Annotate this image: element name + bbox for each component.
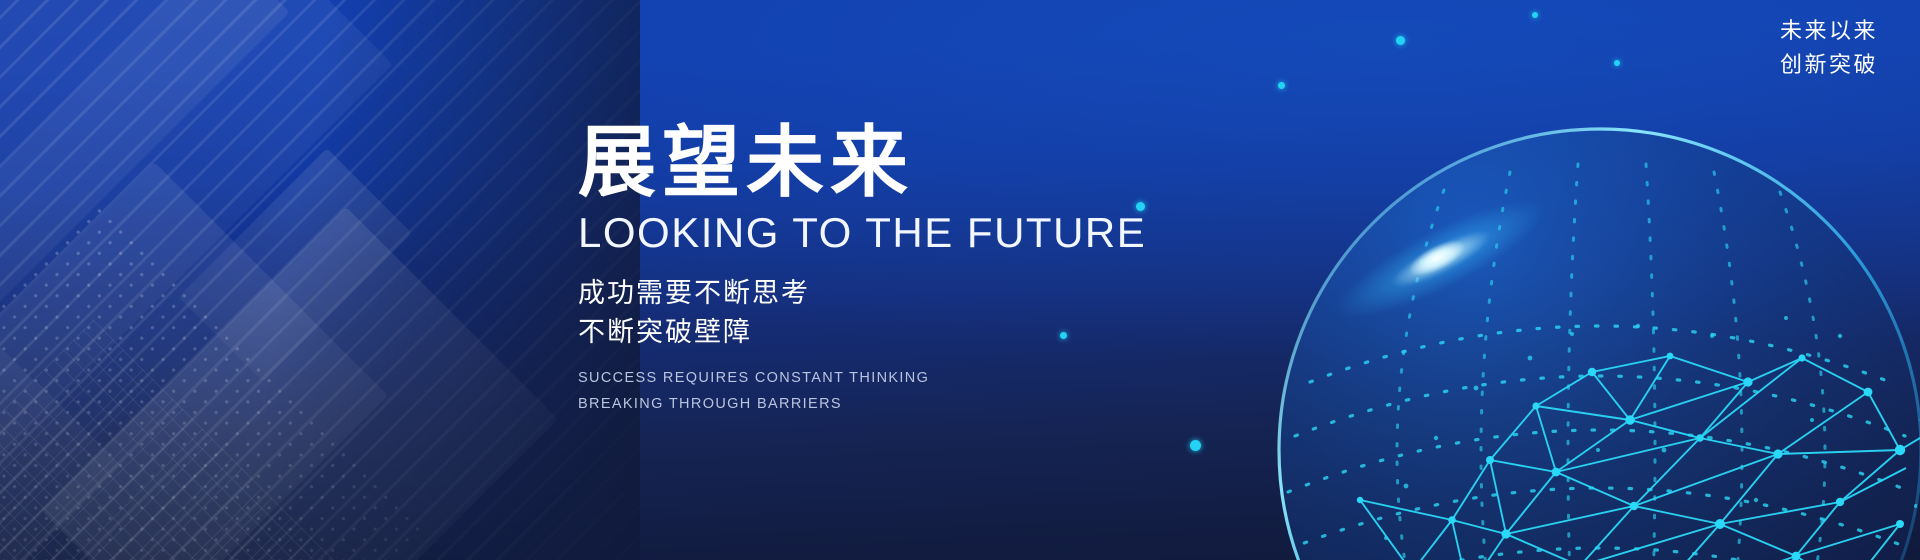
accent-dot	[1614, 60, 1620, 66]
subheading-chinese-line-2: 不断突破壁障	[578, 313, 1338, 352]
accent-dot	[1190, 440, 1201, 451]
subheading-chinese: 成功需要不断思考 不断突破壁障	[578, 274, 1338, 352]
corner-slogan-line-2: 创新突破	[1780, 48, 1878, 82]
decorative-quad-3	[0, 162, 388, 560]
page-title-chinese: 展望未来	[578, 122, 1338, 204]
promotional-banner: 展望未来 LOOKING TO THE FUTURE 成功需要不断思考 不断突破…	[0, 0, 1920, 560]
dot-grid-pattern	[0, 200, 425, 560]
corner-slogan: 未来以来 创新突破	[1780, 14, 1878, 82]
decorative-quad-1	[0, 0, 290, 465]
globe-light-flare-core	[1404, 233, 1470, 283]
diagonal-geometric-pattern	[0, 0, 640, 560]
decorative-quad-4	[42, 207, 558, 560]
accent-dot	[1396, 36, 1405, 45]
subheading-chinese-line-1: 成功需要不断思考	[578, 274, 1338, 313]
accent-dot	[1532, 12, 1538, 18]
corner-slogan-line-1: 未来以来	[1780, 14, 1878, 48]
decorative-quad-6	[0, 290, 120, 560]
dot-grid-pattern-secondary	[0, 320, 390, 560]
globe-light-flare	[1325, 181, 1556, 337]
decorative-quad-2	[0, 0, 393, 460]
subheading-english-line-2: BREAKING THROUGH BARRIERS	[578, 392, 1338, 417]
decorative-quad-5	[178, 148, 411, 381]
headline-block: 展望未来 LOOKING TO THE FUTURE 成功需要不断思考 不断突破…	[578, 122, 1338, 417]
left-art-fade-overlay	[0, 0, 640, 560]
diagonal-stripe-lines	[0, 0, 640, 560]
accent-dot	[1278, 82, 1285, 89]
page-title-english: LOOKING TO THE FUTURE	[578, 210, 1338, 256]
subheading-english-line-1: SUCCESS REQUIRES CONSTANT THINKING	[578, 366, 1338, 391]
subheading-english: SUCCESS REQUIRES CONSTANT THINKING BREAK…	[578, 366, 1338, 417]
